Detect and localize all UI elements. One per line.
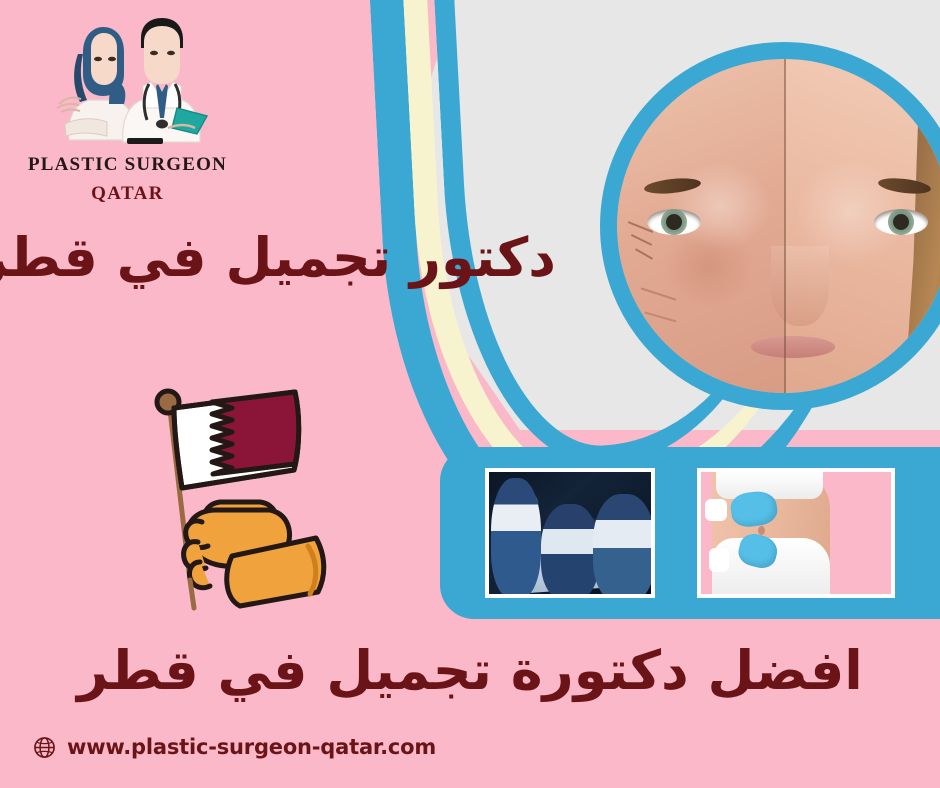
page-title-top: دكتور تجميل في قطر <box>0 228 556 287</box>
liposuction-body-contouring-photo <box>697 468 895 598</box>
before-after-face-circle <box>600 42 940 410</box>
photo-gallery-panel <box>440 447 940 619</box>
eye-right <box>874 209 928 235</box>
wrinkle <box>641 287 677 300</box>
globe-icon <box>33 736 56 759</box>
before-after-divider <box>784 59 786 393</box>
nose <box>771 246 829 326</box>
brand-logo: PLASTIC SURGEON QATAR <box>25 12 230 205</box>
sleeve-cuff <box>705 499 727 521</box>
eye-left <box>647 209 701 235</box>
wrinkle <box>644 312 677 323</box>
surgeon-figure <box>541 504 599 598</box>
face-image <box>617 59 940 393</box>
two-doctors-illustration <box>31 12 221 152</box>
logo-title: PLASTIC SURGEON <box>25 154 230 176</box>
lips <box>751 336 835 358</box>
footer-website[interactable]: www.plastic-surgeon-qatar.com <box>33 735 436 759</box>
logo-subtitle: QATAR <box>25 183 230 205</box>
website-url[interactable]: www.plastic-surgeon-qatar.com <box>67 735 436 759</box>
wrinkle <box>635 248 653 260</box>
page-title-bottom: افضل دكتورة تجميل في قطر <box>0 641 940 700</box>
eyebrow-left <box>643 176 701 196</box>
navel <box>758 526 765 535</box>
surgeon-figure <box>593 494 655 598</box>
hand-holding-qatar-flag <box>120 370 345 625</box>
surgeon-figure <box>491 478 541 598</box>
wrinkle <box>631 234 653 246</box>
sleeve-cuff <box>709 548 729 572</box>
surgery-operating-room-photo <box>485 468 655 598</box>
poster-canvas: PLASTIC SURGEON QATAR دكتور تجميل في قطر <box>0 0 940 788</box>
